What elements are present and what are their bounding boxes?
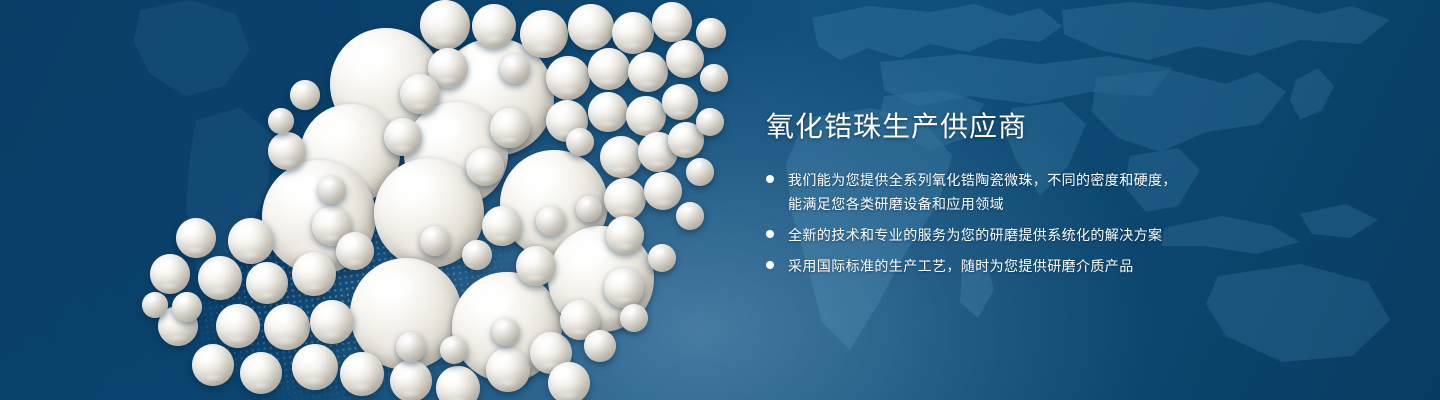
page-title: 氧化锆珠生产供应商	[766, 110, 1027, 144]
list-item-line: 能满足您各类研磨设备和应用领域	[788, 192, 1177, 216]
list-item-text: 全新的技术和专业的服务为您的研磨提供系统化的解决方案	[788, 223, 1162, 247]
list-item-line: 采用国际标准的生产工艺，随时为您提供研磨介质产品	[788, 254, 1134, 278]
list-item-text: 采用国际标准的生产工艺，随时为您提供研磨介质产品	[788, 254, 1134, 278]
list-item-line: 我们能为您提供全系列氧化锆陶瓷微珠，不同的密度和硬度，	[788, 168, 1177, 192]
list-item: 全新的技术和专业的服务为您的研磨提供系统化的解决方案	[766, 223, 1406, 247]
bullet-dot-icon	[766, 230, 774, 238]
bullet-dot-icon	[766, 175, 774, 183]
list-item: 我们能为您提供全系列氧化锆陶瓷微珠，不同的密度和硬度， 能满足您各类研磨设备和应…	[766, 168, 1406, 216]
banner-content: 氧化锆珠生产供应商 我们能为您提供全系列氧化锆陶瓷微珠，不同的密度和硬度， 能满…	[766, 0, 1406, 400]
bullet-dot-icon	[766, 261, 774, 269]
hero-banner: 氧化锆珠生产供应商 我们能为您提供全系列氧化锆陶瓷微珠，不同的密度和硬度， 能满…	[0, 0, 1440, 400]
list-item-text: 我们能为您提供全系列氧化锆陶瓷微珠，不同的密度和硬度， 能满足您各类研磨设备和应…	[788, 168, 1177, 216]
list-item: 采用国际标准的生产工艺，随时为您提供研磨介质产品	[766, 254, 1406, 278]
list-item-line: 全新的技术和专业的服务为您的研磨提供系统化的解决方案	[788, 223, 1162, 247]
zirconia-beads-image	[0, 0, 760, 400]
halftone-dot-texture	[105, 122, 556, 400]
feature-list: 我们能为您提供全系列氧化锆陶瓷微珠，不同的密度和硬度， 能满足您各类研磨设备和应…	[766, 168, 1406, 285]
